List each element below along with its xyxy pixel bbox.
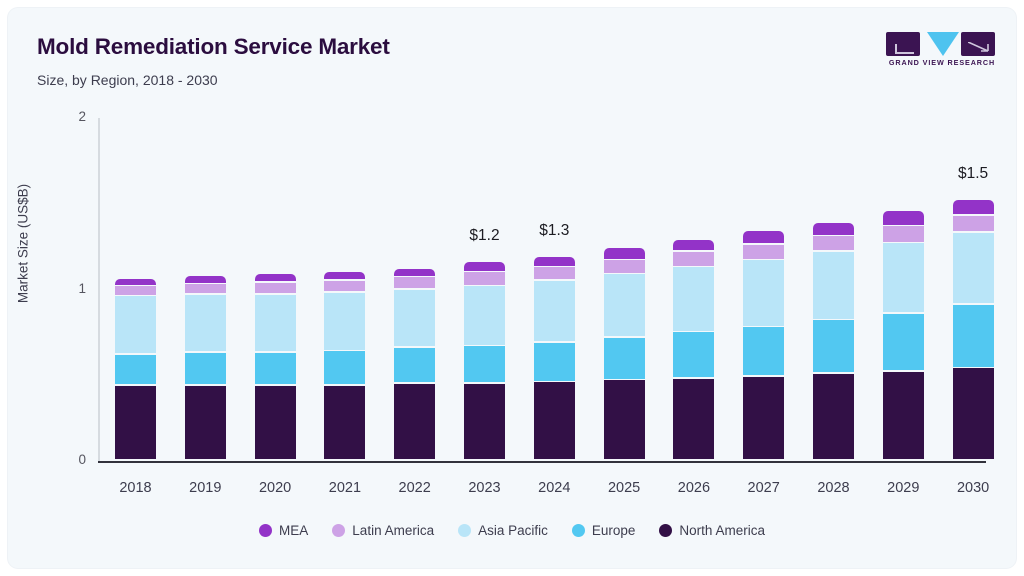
bar-segment-mea[interactable] — [394, 269, 435, 276]
bar-segment-latin-america[interactable] — [813, 236, 854, 250]
bar-segment-asia-pacific[interactable] — [394, 290, 435, 347]
bar-segment-mea[interactable] — [185, 276, 226, 283]
legend-swatch-icon — [458, 524, 471, 537]
bar-segment-asia-pacific[interactable] — [464, 286, 505, 345]
bar-segment-north-america[interactable] — [953, 368, 994, 459]
bar-segment-north-america[interactable] — [534, 382, 575, 459]
bar-segment-europe[interactable] — [673, 332, 714, 377]
bar-segment-mea[interactable] — [464, 262, 505, 271]
bar-segment-europe[interactable] — [324, 351, 365, 384]
y-axis-tick-label: 0 — [46, 452, 86, 467]
bar-segment-europe[interactable] — [604, 338, 645, 379]
bar-segment-latin-america[interactable] — [255, 283, 296, 294]
x-axis-line — [98, 461, 986, 463]
bar-segment-asia-pacific[interactable] — [115, 296, 156, 353]
y-axis-tick-label: 1 — [46, 281, 86, 296]
x-axis-tick-label: 2029 — [863, 480, 943, 496]
bar-segment-north-america[interactable] — [673, 379, 714, 460]
bar-segment-europe[interactable] — [953, 305, 994, 367]
bar-segment-asia-pacific[interactable] — [953, 233, 994, 304]
bar-segment-north-america[interactable] — [743, 377, 784, 460]
bar-segment-europe[interactable] — [883, 314, 924, 371]
bar-segment-latin-america[interactable] — [953, 216, 994, 232]
bar-segment-europe[interactable] — [115, 355, 156, 384]
bar-segment-asia-pacific[interactable] — [534, 281, 575, 341]
bar-segment-latin-america[interactable] — [534, 267, 575, 279]
x-axis-tick-label: 2026 — [654, 480, 734, 496]
legend-label: Latin America — [352, 523, 434, 538]
bar-value-label: $1.3 — [509, 222, 599, 240]
bar-segment-europe[interactable] — [813, 320, 854, 372]
bar-segment-asia-pacific[interactable] — [185, 295, 226, 352]
bar-segment-asia-pacific[interactable] — [324, 293, 365, 350]
bar-stack[interactable] — [743, 8, 784, 461]
bar-segment-latin-america[interactable] — [604, 260, 645, 272]
bar-stack[interactable] — [673, 8, 714, 461]
bar-segment-europe[interactable] — [185, 353, 226, 384]
bar-segment-north-america[interactable] — [464, 384, 505, 460]
x-axis-tick-label: 2024 — [514, 480, 594, 496]
bar-segment-north-america[interactable] — [813, 374, 854, 460]
x-axis-tick-label: 2028 — [794, 480, 874, 496]
bar-segment-asia-pacific[interactable] — [743, 260, 784, 325]
bar-stack[interactable] — [115, 8, 156, 461]
bar-segment-mea[interactable] — [883, 211, 924, 225]
bar-segment-europe[interactable] — [743, 327, 784, 375]
bar-segment-north-america[interactable] — [883, 372, 924, 460]
legend-swatch-icon — [259, 524, 272, 537]
chart-legend: MEALatin AmericaAsia PacificEuropeNorth … — [8, 523, 1016, 538]
x-axis-tick-label: 2021 — [305, 480, 385, 496]
legend-swatch-icon — [572, 524, 585, 537]
x-axis-tick-label: 2018 — [96, 480, 176, 496]
bar-segment-mea[interactable] — [604, 248, 645, 259]
legend-swatch-icon — [659, 524, 672, 537]
legend-item-latin-america[interactable]: Latin America — [332, 523, 434, 538]
bar-stack[interactable] — [185, 8, 226, 461]
bar-segment-mea[interactable] — [953, 200, 994, 214]
bar-segment-latin-america[interactable] — [394, 277, 435, 288]
bar-segment-north-america[interactable] — [324, 386, 365, 460]
bar-segment-europe[interactable] — [534, 343, 575, 381]
bar-stack[interactable] — [604, 8, 645, 461]
bar-segment-latin-america[interactable] — [324, 281, 365, 292]
y-axis-line — [98, 118, 100, 461]
bar-segment-north-america[interactable] — [604, 380, 645, 459]
legend-item-asia-pacific[interactable]: Asia Pacific — [458, 523, 548, 538]
bar-segment-mea[interactable] — [115, 279, 156, 284]
x-axis-tick-label: 2027 — [724, 480, 804, 496]
y-axis-tick-label: 2 — [46, 109, 86, 124]
bar-segment-europe[interactable] — [394, 348, 435, 383]
bar-segment-asia-pacific[interactable] — [813, 252, 854, 319]
bar-stack[interactable] — [883, 8, 924, 461]
bar-segment-asia-pacific[interactable] — [883, 243, 924, 312]
x-axis-tick-label: 2025 — [584, 480, 664, 496]
legend-item-europe[interactable]: Europe — [572, 523, 636, 538]
legend-swatch-icon — [332, 524, 345, 537]
bar-segment-north-america[interactable] — [115, 386, 156, 460]
y-axis-title: Market Size (US$B) — [16, 94, 31, 394]
bar-segment-mea[interactable] — [255, 274, 296, 281]
legend-item-mea[interactable]: MEA — [259, 523, 308, 538]
bar-segment-latin-america[interactable] — [673, 252, 714, 266]
bar-segment-mea[interactable] — [673, 240, 714, 251]
bar-segment-latin-america[interactable] — [743, 245, 784, 259]
legend-label: MEA — [279, 523, 308, 538]
x-axis-tick-label: 2022 — [375, 480, 455, 496]
bar-segment-mea[interactable] — [743, 231, 784, 243]
legend-label: Asia Pacific — [478, 523, 548, 538]
chart-card: Mold Remediation Service Market Size, by… — [8, 8, 1016, 568]
bar-stack[interactable] — [394, 8, 435, 461]
legend-label: North America — [679, 523, 765, 538]
x-axis-tick-label: 2019 — [165, 480, 245, 496]
x-axis-tick-label: 2023 — [445, 480, 525, 496]
bar-segment-latin-america[interactable] — [464, 272, 505, 284]
bar-stack[interactable] — [813, 8, 854, 461]
bar-segment-asia-pacific[interactable] — [255, 295, 296, 352]
bar-segment-europe[interactable] — [255, 353, 296, 384]
bar-stack[interactable] — [255, 8, 296, 461]
bar-segment-mea[interactable] — [813, 223, 854, 235]
bar-segment-mea[interactable] — [534, 257, 575, 266]
legend-item-north-america[interactable]: North America — [659, 523, 765, 538]
x-axis-tick-label: 2030 — [933, 480, 1013, 496]
bar-stack[interactable] — [953, 8, 994, 461]
bar-segment-asia-pacific[interactable] — [673, 267, 714, 331]
bar-segment-latin-america[interactable] — [883, 226, 924, 242]
bar-segment-mea[interactable] — [324, 272, 365, 279]
bar-stack[interactable] — [324, 8, 365, 461]
bar-segment-north-america[interactable] — [394, 384, 435, 460]
bar-segment-latin-america[interactable] — [115, 286, 156, 295]
bar-segment-europe[interactable] — [464, 346, 505, 382]
bar-segment-asia-pacific[interactable] — [604, 274, 645, 336]
bar-segment-north-america[interactable] — [255, 386, 296, 460]
bar-segment-north-america[interactable] — [185, 386, 226, 460]
x-axis-tick-label: 2020 — [235, 480, 315, 496]
stacked-bar-chart: Market Size (US$B) 012 20182019202020212… — [8, 8, 1016, 568]
bar-segment-latin-america[interactable] — [185, 284, 226, 293]
legend-label: Europe — [592, 523, 636, 538]
bar-value-label: $1.5 — [928, 165, 1018, 183]
